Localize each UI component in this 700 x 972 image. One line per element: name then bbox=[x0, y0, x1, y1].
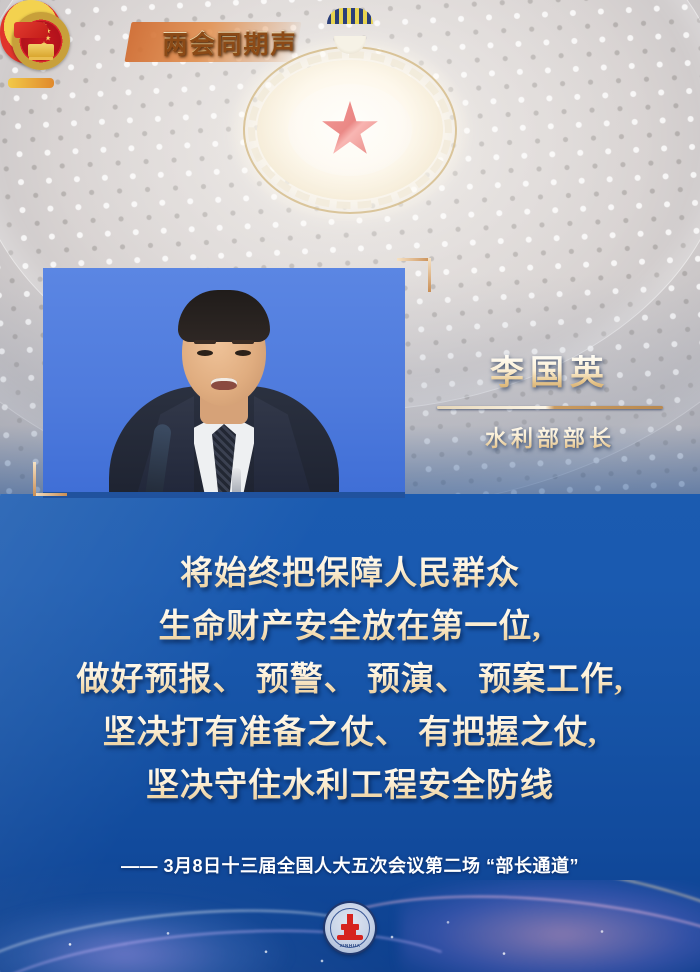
speaker-photo bbox=[43, 268, 405, 498]
name-divider-rule bbox=[437, 406, 663, 409]
photo-corner-bracket-top-right bbox=[397, 258, 431, 292]
cppcc-ribbon bbox=[8, 78, 54, 88]
poster-root: 两会同期声 李国英 水利部部长 将始终把保障人民群众 生命财产安全放在第一 bbox=[0, 0, 700, 972]
speaker-identity-block: 李国英 水利部部长 bbox=[430, 355, 670, 453]
portrait-brow-right bbox=[232, 340, 254, 344]
portrait-hair bbox=[178, 290, 270, 342]
banner-title: 两会同期声 bbox=[150, 24, 310, 60]
portrait-brow-left bbox=[194, 340, 216, 344]
podium-edge bbox=[43, 492, 405, 498]
attribution-line: —— 3月8日十三届全国人大五次会议第二场 “部长通道” bbox=[0, 852, 700, 878]
logo-wordmark: XINHUA bbox=[325, 943, 375, 948]
bracket-horizontal bbox=[33, 493, 67, 496]
logo-tower-base bbox=[344, 927, 356, 937]
quote-line: 生命财产安全放在第一位, bbox=[0, 601, 700, 654]
speaker-role: 水利部部长 bbox=[430, 421, 670, 453]
logo-tower-top bbox=[347, 914, 353, 928]
bracket-vertical bbox=[33, 462, 36, 496]
bracket-vertical bbox=[428, 258, 431, 292]
quote-line: 做好预报、 预警、 预演、 预案工作, bbox=[0, 654, 700, 707]
portrait-eye-right bbox=[235, 350, 251, 356]
header-bar: 两会同期声 bbox=[0, 0, 700, 92]
portrait-mouth bbox=[211, 378, 237, 390]
xinhua-logo-icon: XINHUA bbox=[325, 903, 375, 953]
quote-block: 将始终把保障人民群众 生命财产安全放在第一位, 做好预报、 预警、 预演、 预案… bbox=[0, 548, 700, 813]
bracket-horizontal bbox=[397, 258, 431, 261]
cppcc-red-flag bbox=[14, 22, 48, 38]
speaker-name: 李国英 bbox=[430, 355, 670, 392]
tiananmen-gate-shape bbox=[28, 44, 54, 57]
cppcc-gear-shape bbox=[334, 36, 366, 54]
quote-line: 坚决守住水利工程安全防线 bbox=[0, 760, 700, 813]
photo-corner-bracket-bottom-left bbox=[33, 462, 67, 496]
quote-line: 将始终把保障人民群众 bbox=[0, 548, 700, 601]
portrait-eye-left bbox=[197, 350, 213, 356]
national-emblem-icon bbox=[12, 12, 70, 70]
quote-line: 坚决打有准备之仗、 有把握之仗, bbox=[0, 707, 700, 760]
